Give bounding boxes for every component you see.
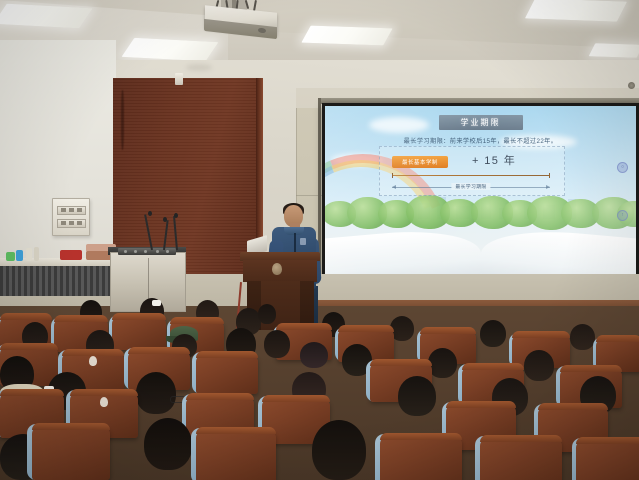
microphone-head-icon	[163, 217, 167, 222]
table-item	[26, 248, 32, 261]
cloud-icon	[369, 117, 429, 133]
audience-head	[258, 304, 276, 324]
podium-crest-icon	[272, 263, 282, 275]
seat[interactable]	[32, 426, 110, 480]
side-table-front	[0, 266, 112, 296]
slide-plus-years: + 15 年	[472, 152, 516, 168]
slide-round-icon: ○	[617, 162, 628, 173]
projection-screen: 学业期限 最长学习期限：前来学校后15年，最长不超过22年。 最长基本学制 + …	[322, 103, 639, 303]
seat[interactable]	[480, 438, 562, 480]
seat[interactable]	[576, 440, 639, 480]
ceiling-light-icon	[0, 4, 93, 29]
audience-head	[264, 330, 290, 358]
slide-axis-bar	[392, 175, 550, 176]
wall-sensor-icon	[175, 73, 183, 85]
table-item	[6, 252, 15, 261]
table-item	[34, 247, 39, 261]
ceiling-light-icon	[301, 26, 392, 46]
table-item	[16, 250, 23, 261]
audience-head	[136, 372, 176, 414]
audience-head	[398, 376, 436, 416]
slide-duration-arrow: 最长学习期限	[392, 183, 550, 192]
ceiling-light-icon	[589, 43, 639, 58]
ceiling-light-icon	[525, 0, 627, 22]
microphone-head-icon	[148, 211, 152, 216]
wall-anchor-icon	[628, 82, 635, 89]
slide-title: 学业期限	[439, 115, 523, 130]
slide-badge: 最长基本学制	[392, 156, 448, 168]
lecture-hall-photo: 学业期限 最长学习期限：前来学校后15年，最长不超过22年。 最长基本学制 + …	[0, 0, 639, 480]
audience-head	[144, 418, 192, 470]
speaker-badge	[300, 238, 306, 245]
table-item	[60, 250, 82, 260]
seat[interactable]	[380, 436, 462, 480]
seat[interactable]	[196, 430, 276, 480]
audience-head	[480, 320, 506, 347]
audience-head	[570, 324, 595, 350]
audience-head	[524, 350, 554, 381]
slide-callout-box: 最长基本学制 + 15 年 最长学习期限	[379, 146, 565, 196]
microphone-head-icon	[174, 213, 178, 218]
projector-lens-icon	[258, 28, 266, 34]
slide-axis-label: 最长学习期限	[451, 183, 490, 190]
seat[interactable]	[196, 354, 258, 394]
slide-subtitle: 最长学习期限：前来学校后15年，最长不超过22年。	[404, 136, 558, 145]
slide-surface: 学业期限 最长学习期限：前来学校后15年，最长不超过22年。 最长基本学制 + …	[325, 106, 636, 289]
hair-clip-icon	[152, 300, 161, 306]
audience-head	[300, 342, 328, 368]
slide-arrow-icon: ↑	[617, 210, 628, 221]
audience-head	[428, 348, 457, 378]
electrical-panel	[52, 198, 90, 236]
wall-mark	[186, 64, 212, 71]
audience-head	[312, 420, 366, 480]
av-equipment	[118, 248, 176, 255]
seat[interactable]	[112, 316, 166, 350]
